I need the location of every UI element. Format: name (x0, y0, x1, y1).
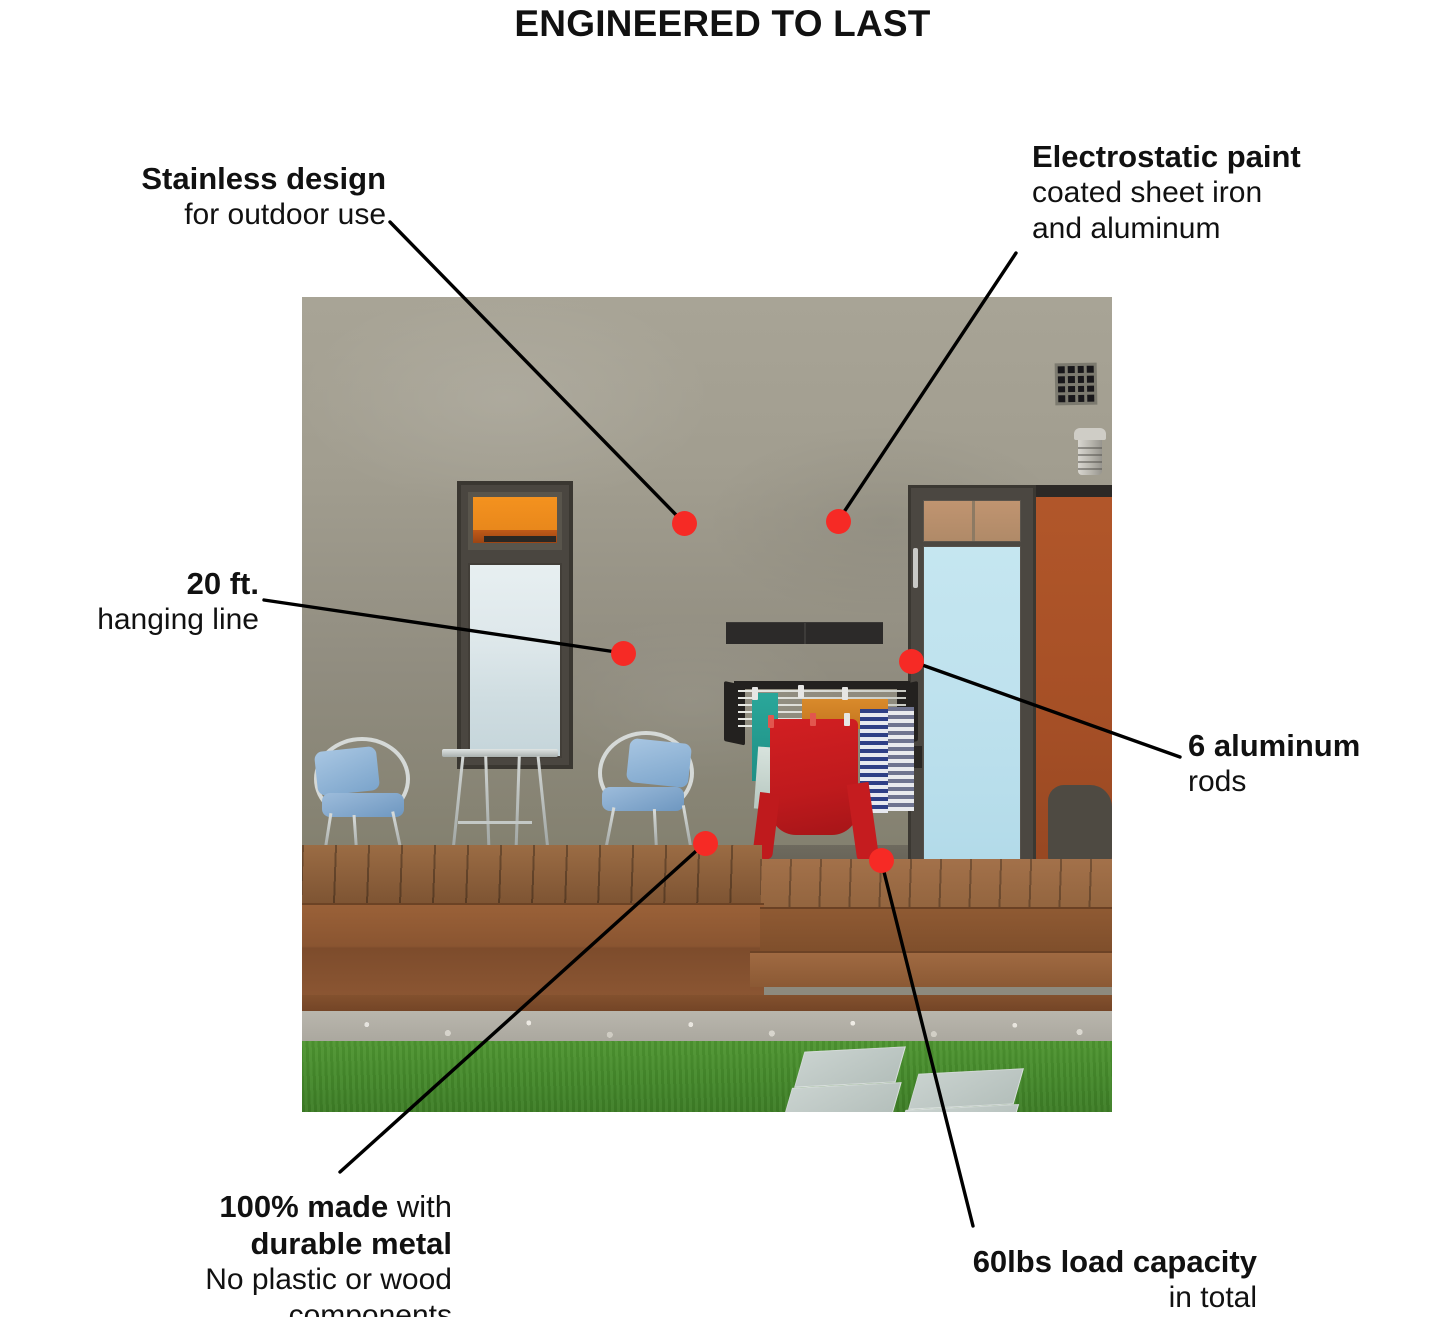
gravel-border (302, 1011, 1112, 1045)
callout-headline-light (388, 1189, 397, 1224)
callout-subline: rods (1188, 764, 1443, 800)
product-photo (302, 297, 1112, 1112)
infographic-root: ENGINEERED TO LAST (0, 0, 1445, 1317)
wall-shelf (726, 622, 883, 644)
patio-chair-right (592, 731, 704, 849)
red-garment (770, 719, 858, 835)
callout-dot-hanging-line[interactable] (611, 641, 636, 666)
callout-stainless-design: Stainless design for outdoor use (6, 160, 386, 233)
callout-subline-2: components (28, 1298, 452, 1317)
callout-subline-1: No plastic or wood (28, 1262, 452, 1298)
deck-step-surface (760, 859, 1112, 911)
lawn (302, 1041, 1112, 1112)
stone-paver (782, 1082, 901, 1112)
table-rail (458, 821, 532, 824)
wall-vent-icon (1055, 363, 1098, 406)
clothes-peg (752, 687, 758, 700)
callout-headline: Stainless design (6, 160, 386, 197)
interior-chair (1048, 785, 1112, 863)
deck-upper-face (302, 903, 764, 1003)
callout-electrostatic-paint: Electrostatic paint coated sheet iron an… (1032, 138, 1442, 247)
clothes-peg (768, 715, 774, 728)
window-glass (468, 563, 562, 758)
clothes-peg (844, 713, 850, 726)
callout-subline-2: and aluminum (1032, 211, 1442, 247)
callout-headline-light-word: with (397, 1189, 452, 1224)
door-handle-icon (913, 548, 918, 588)
callout-dot-aluminum-rods[interactable] (899, 649, 924, 674)
callout-headline: 20 ft. (0, 565, 259, 602)
table-top (442, 749, 558, 757)
stone-paver (794, 1046, 906, 1087)
chair-back-cushion (626, 738, 692, 788)
callout-headline-strong: 100% made (219, 1189, 388, 1224)
window-transom (468, 492, 562, 550)
page-title: ENGINEERED TO LAST (0, 2, 1445, 46)
clothes-peg (810, 713, 816, 726)
callout-subline-1: coated sheet iron (1032, 175, 1442, 211)
deck-step-face (760, 907, 1112, 955)
wall-lamp-icon (1078, 433, 1102, 475)
callout-dot-stainless-design[interactable] (672, 511, 697, 536)
callout-dot-electrostatic-paint[interactable] (826, 509, 851, 534)
callout-headline: 6 aluminum (1188, 727, 1443, 764)
clothes-peg (842, 687, 848, 700)
callout-load-capacity: 60lbs load capacity in total (700, 1243, 1257, 1316)
patio-chair-left (308, 737, 420, 855)
callout-subline: for outdoor use (6, 197, 386, 233)
grey-striped-towel (888, 707, 914, 811)
callout-subline: hanging line (0, 602, 259, 638)
chair-back-cushion (314, 746, 380, 796)
clothes-peg (798, 685, 804, 698)
callout-dot-load-capacity[interactable] (869, 848, 894, 873)
callout-subline: in total (700, 1280, 1257, 1316)
window (457, 481, 573, 769)
callout-headline: 60lbs load capacity (700, 1243, 1257, 1280)
callout-durable-metal: 100% made with durable metal No plastic … (28, 1188, 452, 1317)
hanging-laundry (732, 685, 922, 855)
deck-upper-surface (302, 845, 762, 907)
window-dark-bar (484, 536, 556, 542)
callout-headline: Electrostatic paint (1032, 138, 1442, 175)
callout-headline-line-2: durable metal (28, 1225, 452, 1262)
callout-headline-line-1: 100% made with (28, 1188, 452, 1225)
door-transom (923, 500, 1021, 542)
callout-hanging-line: 20 ft. hanging line (0, 565, 259, 638)
stone-paver (908, 1068, 1024, 1109)
callout-dot-durable-metal[interactable] (693, 831, 718, 856)
callout-aluminum-rods: 6 aluminum rods (1188, 727, 1443, 800)
window-orange-panel (473, 497, 557, 532)
interior-header (1036, 485, 1112, 497)
deck-lower-step (750, 951, 1112, 987)
